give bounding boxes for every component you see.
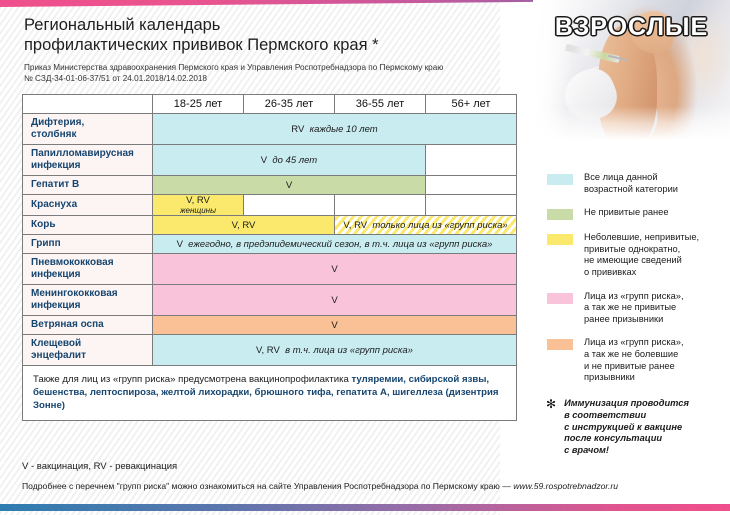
legend-no-records: Неболевшие, непривитые,привитые однократ… <box>547 232 725 278</box>
table-row: Гепатит ВV <box>23 176 517 195</box>
cell-5-0: V ежегодно, в предэпидемический сезон, в… <box>153 235 517 254</box>
page-title: Региональный календарь профилактических … <box>24 15 494 55</box>
row-label: Папилломавируснаяинфекция <box>23 145 153 176</box>
cell-9-0: V, RV в т.ч. лица из «групп риска» <box>153 335 517 366</box>
legend-not-vaccinated-label: Не привитые ранее <box>584 207 669 219</box>
cell-note: каждые 10 лет <box>304 124 377 135</box>
table-row: ГриппV ежегодно, в предэпидемический сез… <box>23 235 517 254</box>
vaccination-photo: ВЗРОСЛЫЕ <box>533 0 730 140</box>
banner-title: ВЗРОСЛЫЕ <box>533 13 730 42</box>
row-label: Дифтерия,столбняк <box>23 114 153 145</box>
risk-group-note: Также для лиц из «групп риска» предусмот… <box>23 366 517 421</box>
poster-page: ВЗРОСЛЫЕ Региональный календарь профилак… <box>0 0 730 515</box>
legend-risk-groups: Лица из «групп риска»,а так же не привит… <box>547 291 725 326</box>
table-header-age-3: 36-55 лет <box>335 95 426 114</box>
page-title-line1: Региональный календарь <box>24 15 494 35</box>
legend-all-persons: Все лица даннойвозрастной категории <box>547 172 725 195</box>
cell-value: V <box>331 295 337 306</box>
cell-4-1: V, RV только лица из «групп риска» <box>335 216 517 235</box>
legend-risk-groups-swatch <box>547 293 573 304</box>
table-header-age-1: 18-25 лет <box>153 95 244 114</box>
cell-0-0: RV каждые 10 лет <box>153 114 517 145</box>
legend-all-persons-swatch <box>547 174 573 185</box>
row-label: Ветряная оспа <box>23 316 153 335</box>
cell-3-2 <box>335 195 426 216</box>
row-label: Менингококковаяинфекция <box>23 285 153 316</box>
table-row: ПневмококковаяинфекцияV <box>23 254 517 285</box>
legend-all-persons-label: Все лица даннойвозрастной категории <box>584 172 678 195</box>
cell-1-0: V до 45 лет <box>153 145 426 176</box>
cell-4-0: V, RV <box>153 216 335 235</box>
row-label: Грипп <box>23 235 153 254</box>
legend-no-records-swatch <box>547 234 573 245</box>
row-label: Клещевойэнцефалит <box>23 335 153 366</box>
cell-3-1 <box>244 195 335 216</box>
footer-source-url[interactable]: www.59.rospotrebnadzor.ru <box>513 481 618 491</box>
row-label: Гепатит В <box>23 176 153 195</box>
table-row: Ветряная оспаV <box>23 316 517 335</box>
asterisk-icon: ✻ <box>546 398 556 410</box>
table-note-row: Также для лиц из «групп риска» предусмот… <box>23 366 517 421</box>
legend-no-records-label: Неболевшие, непривитые,привитые однократ… <box>584 232 699 278</box>
photo-fade-bottom <box>533 106 730 140</box>
cell-value: V <box>331 264 337 275</box>
page-subtitle-line2: № СЗД-34-01-06-37/51 от 24.01.2018/14.02… <box>24 73 504 84</box>
legend-risk-groups-conscripts-label: Лица из «групп риска»,а так же не болевш… <box>584 337 684 383</box>
legend-not-vaccinated: Не привитые ранее <box>547 207 725 220</box>
table-row: КраснухаV, RVженщины <box>23 195 517 216</box>
cell-2-1 <box>426 176 517 195</box>
cell-value: V ежегодно, в предэпидемический сезон, в… <box>177 239 493 250</box>
cell-6-0: V <box>153 254 517 285</box>
row-label: Пневмококковаяинфекция <box>23 254 153 285</box>
table-row: КлещевойэнцефалитV, RV в т.ч. лица из «г… <box>23 335 517 366</box>
page-subtitle: Приказ Министерства здравоохранения Перм… <box>24 62 504 84</box>
cell-value: V, RV только лица из «групп риска» <box>343 220 507 231</box>
footer-source-text: Подробнее с перечнем "групп риска" можно… <box>22 481 513 491</box>
table-head: 18-25 лет26-35 лет36-55 лет56+ лет <box>23 95 517 114</box>
bottom-gradient-bar <box>0 504 730 511</box>
cell-3-0: V, RVженщины <box>153 195 244 216</box>
cell-value: V до 45 лет <box>261 155 317 166</box>
cell-2-0: V <box>153 176 426 195</box>
cell-note: только лица из «групп риска» <box>367 220 508 231</box>
footer-legend-abbrev: V - вакцинация, RV - ревакцинация <box>22 461 177 472</box>
legend-risk-groups-conscripts: Лица из «групп риска»,а так же не болевш… <box>547 337 725 383</box>
legend-risk-groups-label: Лица из «групп риска»,а так же не привит… <box>584 291 684 326</box>
row-label: Корь <box>23 216 153 235</box>
cell-value: V <box>331 320 337 331</box>
cell-3-3 <box>426 195 517 216</box>
table-header-blank <box>23 95 153 114</box>
color-legend: Все лица даннойвозрастной категорииНе пр… <box>547 172 725 396</box>
footer-source-note: Подробнее с перечнем "групп риска" можно… <box>22 481 618 491</box>
cell-value: RV каждые 10 лет <box>291 124 377 135</box>
table-header-age-4: 56+ лет <box>426 95 517 114</box>
cell-note: до 45 лет <box>267 155 317 166</box>
page-subtitle-line1: Приказ Министерства здравоохранения Перм… <box>24 62 504 73</box>
risk-group-note-lead: Также для лиц из «групп риска» предусмот… <box>33 374 351 385</box>
legend-not-vaccinated-swatch <box>547 209 573 220</box>
cell-8-0: V <box>153 316 517 335</box>
vaccination-calendar-table: 18-25 лет26-35 лет36-55 лет56+ лет Дифте… <box>22 94 517 421</box>
star-note: ✻ Иммунизация проводитсяв соответствиис … <box>546 398 726 457</box>
cell-value: V <box>286 180 292 191</box>
table-header-age-2: 26-35 лет <box>244 95 335 114</box>
cell-value: V, RV в т.ч. лица из «групп риска» <box>256 345 413 356</box>
table-row: Дифтерия,столбнякRV каждые 10 лет <box>23 114 517 145</box>
row-label: Краснуха <box>23 195 153 216</box>
page-title-line2: профилактических прививок Пермского края… <box>24 35 494 55</box>
cell-7-0: V <box>153 285 517 316</box>
table-row: МенингококковаяинфекцияV <box>23 285 517 316</box>
cell-1-1 <box>426 145 517 176</box>
table-body: Дифтерия,столбнякRV каждые 10 летПапилло… <box>23 114 517 421</box>
table-header-row: 18-25 лет26-35 лет36-55 лет56+ лет <box>23 95 517 114</box>
cell-note: в т.ч. лица из «групп риска» <box>280 345 413 356</box>
star-note-text: Иммунизация проводитсяв соответствиис ин… <box>564 398 689 457</box>
table-row: КорьV, RVV, RV только лица из «групп рис… <box>23 216 517 235</box>
cell-value: V, RV <box>232 220 256 231</box>
cell-value: V, RV <box>186 195 210 206</box>
legend-risk-groups-conscripts-swatch <box>547 339 573 350</box>
table-row: ПапилломавируснаяинфекцияV до 45 лет <box>23 145 517 176</box>
cell-note: ежегодно, в предэпидемический сезон, в т… <box>183 239 493 250</box>
cell-subnote: женщины <box>153 206 243 215</box>
